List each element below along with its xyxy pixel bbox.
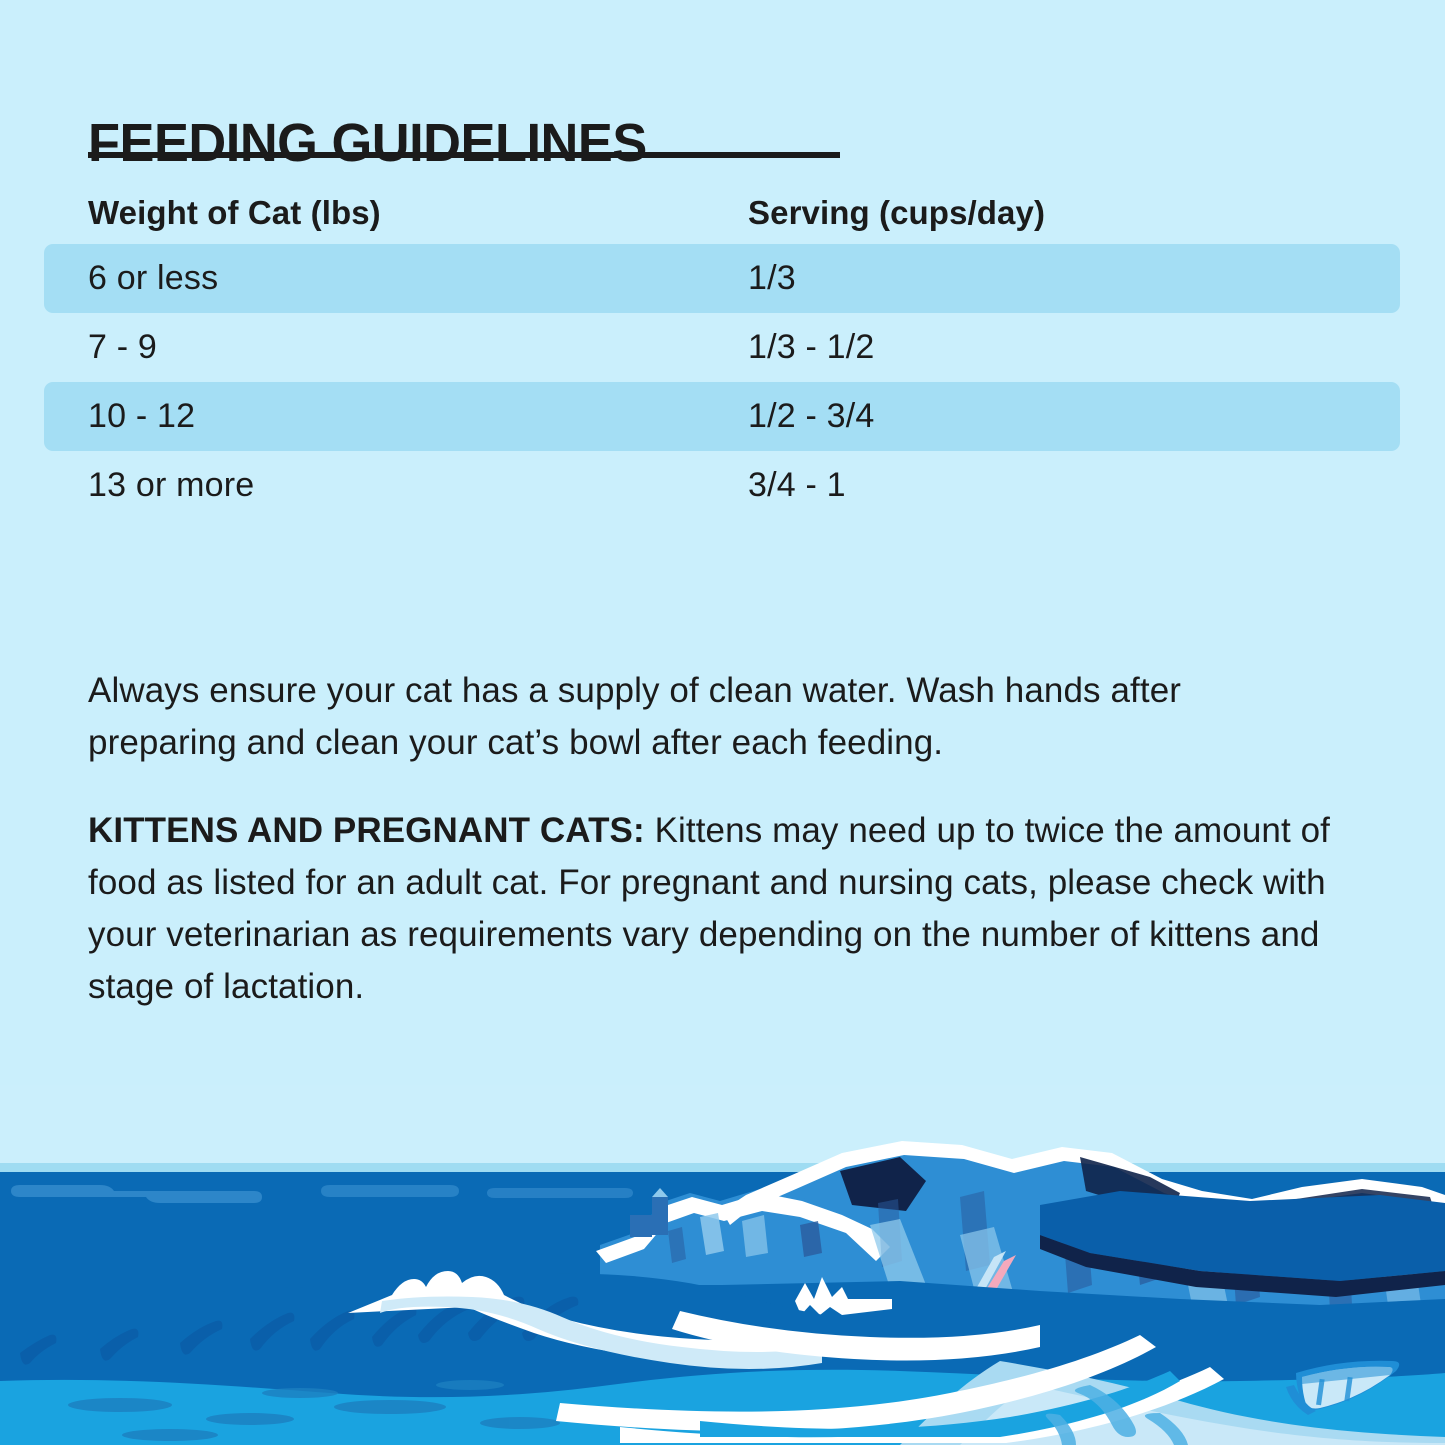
feeding-guidelines-page: FEEDING GUIDELINES Weight of Cat (lbs) S…	[0, 0, 1445, 1445]
feeding-table: Weight of Cat (lbs) Serving (cups/day) 6…	[44, 182, 1400, 520]
title-underline-rule	[88, 152, 840, 158]
coastal-illustration	[0, 1085, 1445, 1445]
table-body: 6 or less 1/3 7 - 9 1/3 - 1/2 10 - 12 1/…	[44, 244, 1400, 520]
cell-weight: 6 or less	[44, 259, 748, 298]
note-clean-water: Always ensure your cat has a supply of c…	[88, 665, 1318, 769]
table-row: 13 or more 3/4 - 1	[44, 451, 1400, 520]
cell-serving: 3/4 - 1	[748, 466, 846, 505]
cell-serving: 1/3	[748, 259, 796, 298]
table-row: 7 - 9 1/3 - 1/2	[44, 313, 1400, 382]
note-kittens-pregnant-cats: KITTENS AND PREGNANT CATS: Kittens may n…	[88, 805, 1373, 1013]
cell-weight: 7 - 9	[44, 328, 748, 367]
note-kittens-label: KITTENS AND PREGNANT CATS:	[88, 811, 645, 850]
column-header-serving: Serving (cups/day)	[748, 194, 1045, 232]
lighthouse-house	[630, 1215, 652, 1237]
table-row: 10 - 12 1/2 - 3/4	[44, 382, 1400, 451]
cell-weight: 13 or more	[44, 466, 748, 505]
table-row: 6 or less 1/3	[44, 244, 1400, 313]
cell-serving: 1/3 - 1/2	[748, 328, 875, 367]
cell-serving: 1/2 - 3/4	[748, 397, 875, 436]
page-title: FEEDING GUIDELINES	[88, 112, 647, 174]
content-area: FEEDING GUIDELINES Weight of Cat (lbs) S…	[0, 0, 1445, 1090]
table-header-row: Weight of Cat (lbs) Serving (cups/day)	[44, 182, 1400, 244]
horizon-band	[0, 1163, 1445, 1172]
lighthouse-tower	[652, 1197, 668, 1235]
column-header-weight: Weight of Cat (lbs)	[44, 194, 748, 232]
cell-weight: 10 - 12	[44, 397, 748, 436]
coastal-illustration-svg	[0, 1085, 1445, 1445]
